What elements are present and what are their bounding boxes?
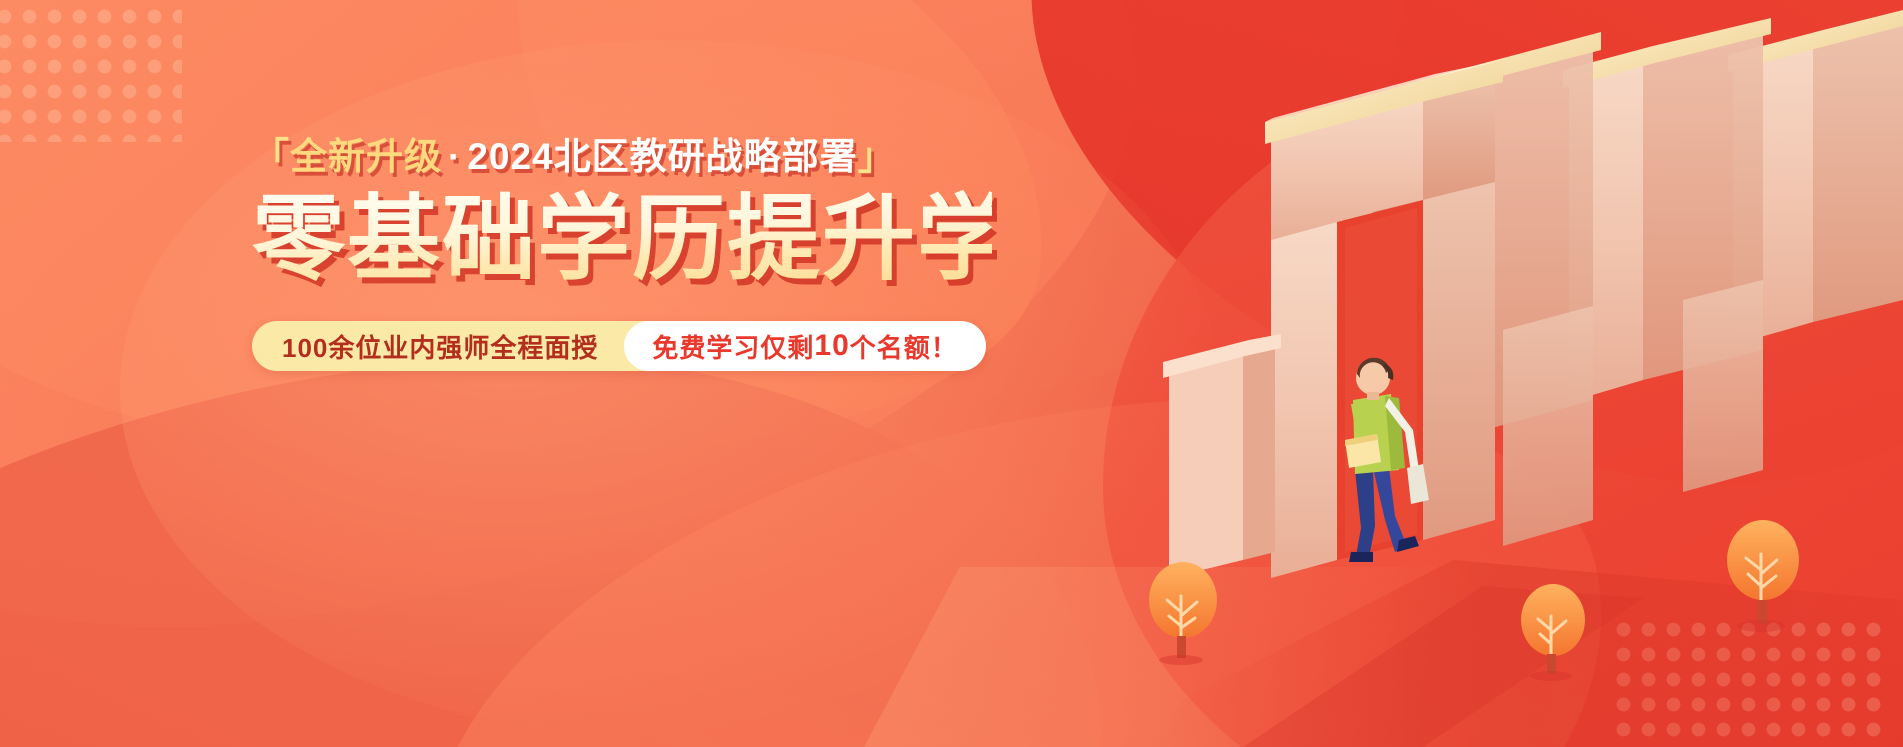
subtitle-bracket-open: 「 — [252, 136, 290, 177]
pill-quota-count: 10 — [814, 329, 849, 363]
subtitle-bracket-close: 」 — [858, 136, 896, 177]
banner-headline: 零基础学历提升学霸班 — [252, 189, 992, 295]
subtitle-white-text: 2024北区教研战略部署 — [467, 136, 857, 177]
dot-pattern-top-left — [0, 4, 182, 142]
pill-free-quota-label[interactable]: 免费学习仅剩10个名额！ — [624, 321, 985, 371]
pill-quota-suffix: 个名额！ — [850, 328, 958, 365]
banner-highlight-pill: 100余位业内强师全程面授 免费学习仅剩10个名额！ — [252, 321, 986, 371]
background-layer — [0, 0, 1903, 747]
promo-banner: 「全新升级·2024北区教研战略部署」 零基础学历提升学霸班 100余位业内强师… — [0, 0, 1903, 747]
banner-content: 「全新升级·2024北区教研战略部署」 零基础学历提升学霸班 100余位业内强师… — [252, 138, 992, 371]
banner-subtitle: 「全新升级·2024北区教研战略部署」 — [252, 138, 992, 175]
pill-quota-prefix: 免费学习仅剩 — [652, 328, 814, 365]
subtitle-separator: · — [442, 136, 467, 177]
pill-instructors-label: 100余位业内强师全程面授 — [252, 321, 624, 371]
subtitle-gold-text: 全新升级 — [290, 136, 442, 177]
background-light-ray — [800, 567, 1720, 747]
